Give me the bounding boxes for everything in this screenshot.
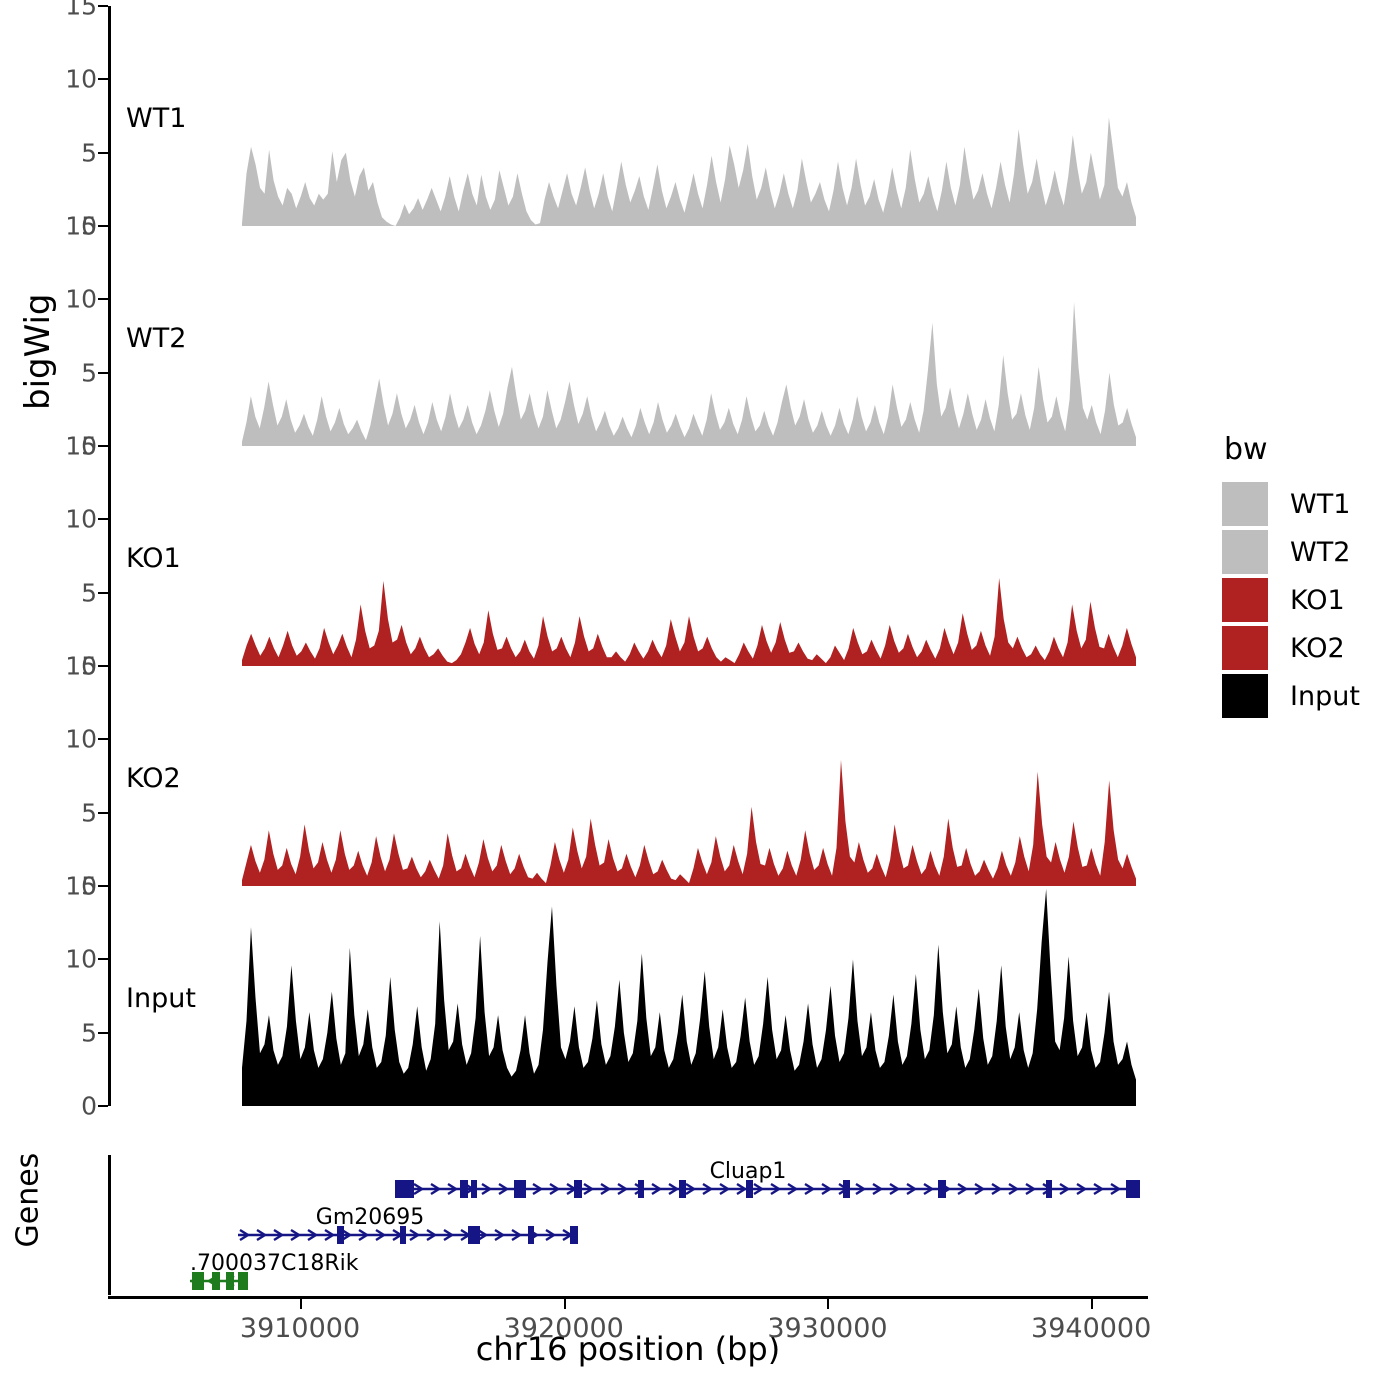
legend-item-ko2[interactable]: KO2 <box>1222 625 1360 671</box>
legend-color-swatch <box>1222 626 1268 670</box>
legend-color-swatch <box>1222 482 1268 526</box>
gene-label: .700037C18Rik <box>190 1251 358 1276</box>
panel-ko1: 051015KO1 <box>108 446 1148 666</box>
x-tick-label: 3930000 <box>767 1313 887 1344</box>
panel-wt1: 051015WT1 <box>108 6 1148 226</box>
y-tick-mark <box>98 372 108 374</box>
y-tick-mark <box>98 1105 108 1107</box>
legend-item-wt1[interactable]: WT1 <box>1222 481 1360 527</box>
y-tick-label: 15 <box>65 212 97 241</box>
y-tick-mark <box>98 812 108 814</box>
y-tick-mark <box>98 592 108 594</box>
legend-item-label: KO2 <box>1290 633 1345 664</box>
legend-item-input[interactable]: Input <box>1222 673 1360 719</box>
signal-track-input <box>108 886 1148 1106</box>
y-tick-label: 0 <box>81 1092 97 1121</box>
y-tick-mark <box>98 885 108 887</box>
genome-browser-figure: bigWig Genes chr16 position (bp) 051015W… <box>0 0 1400 1400</box>
y-tick-mark <box>98 665 108 667</box>
y-tick-mark <box>98 298 108 300</box>
genes-track-panel: Cluap1Gm20695.700037C18Rik <box>108 1155 1148 1303</box>
y-tick-label: 15 <box>65 872 97 901</box>
x-tick-label: 3920000 <box>504 1313 624 1344</box>
legend-color-swatch <box>1222 578 1268 622</box>
x-tick-mark <box>300 1299 302 1309</box>
y-tick-label: 15 <box>65 432 97 461</box>
y-tick-label: 15 <box>65 652 97 681</box>
gene-label: Cluap1 <box>710 1159 787 1184</box>
signal-track-ko2 <box>108 666 1148 886</box>
y-tick-label: 10 <box>65 725 97 754</box>
panel-ko2: 051015KO2 <box>108 666 1148 886</box>
legend: bw WT1WT2KO1KO2Input <box>1222 432 1360 721</box>
y-tick-label: 5 <box>81 1018 97 1047</box>
signal-track-wt2 <box>108 226 1148 446</box>
y-tick-label: 10 <box>65 65 97 94</box>
y-tick-label: 10 <box>65 945 97 974</box>
signal-track-ko1 <box>108 446 1148 666</box>
y-tick-mark <box>98 5 108 7</box>
genes-panel-title: Genes <box>11 1188 46 1248</box>
gene-label: Gm20695 <box>316 1205 424 1230</box>
legend-item-label: WT1 <box>1290 489 1350 520</box>
y-tick-mark <box>98 518 108 520</box>
gene-row[interactable]: Cluap1 <box>108 1167 1148 1201</box>
y-tick-label: 10 <box>65 285 97 314</box>
x-axis-line <box>108 1296 1148 1299</box>
panel-wt2: 051015WT2 <box>108 226 1148 446</box>
y-tick-mark <box>98 78 108 80</box>
legend-item-label: KO1 <box>1290 585 1345 616</box>
y-tick-label: 5 <box>81 358 97 387</box>
legend-item-label: WT2 <box>1290 537 1350 568</box>
gene-row[interactable]: .700037C18Rik <box>108 1259 1148 1293</box>
x-tick-mark <box>564 1299 566 1309</box>
y-tick-label: 5 <box>81 138 97 167</box>
y-tick-label: 10 <box>65 505 97 534</box>
y-tick-mark <box>98 152 108 154</box>
legend-title: bw <box>1224 432 1360 467</box>
signal-track-wt1 <box>108 6 1148 226</box>
y-tick-mark <box>98 958 108 960</box>
legend-item-label: Input <box>1290 681 1360 712</box>
legend-items: WT1WT2KO1KO2Input <box>1222 481 1360 719</box>
y-tick-mark <box>98 445 108 447</box>
y-tick-label: 5 <box>81 578 97 607</box>
y-tick-mark <box>98 225 108 227</box>
x-tick-label: 3940000 <box>1031 1313 1151 1344</box>
x-tick-mark <box>827 1299 829 1309</box>
panel-input: 051015Input <box>108 886 1148 1106</box>
gene-row[interactable]: Gm20695 <box>108 1213 1148 1247</box>
x-axis: 3910000392000039300003940000 <box>108 1296 1148 1356</box>
y-tick-label: 5 <box>81 798 97 827</box>
y-tick-mark <box>98 1032 108 1034</box>
y-tick-label: 15 <box>65 0 97 21</box>
y-axis-title: bigWig <box>18 350 58 410</box>
legend-color-swatch <box>1222 674 1268 718</box>
x-tick-mark <box>1091 1299 1093 1309</box>
y-tick-mark <box>98 738 108 740</box>
legend-item-wt2[interactable]: WT2 <box>1222 529 1360 575</box>
legend-item-ko1[interactable]: KO1 <box>1222 577 1360 623</box>
legend-color-swatch <box>1222 530 1268 574</box>
x-tick-label: 3910000 <box>240 1313 360 1344</box>
